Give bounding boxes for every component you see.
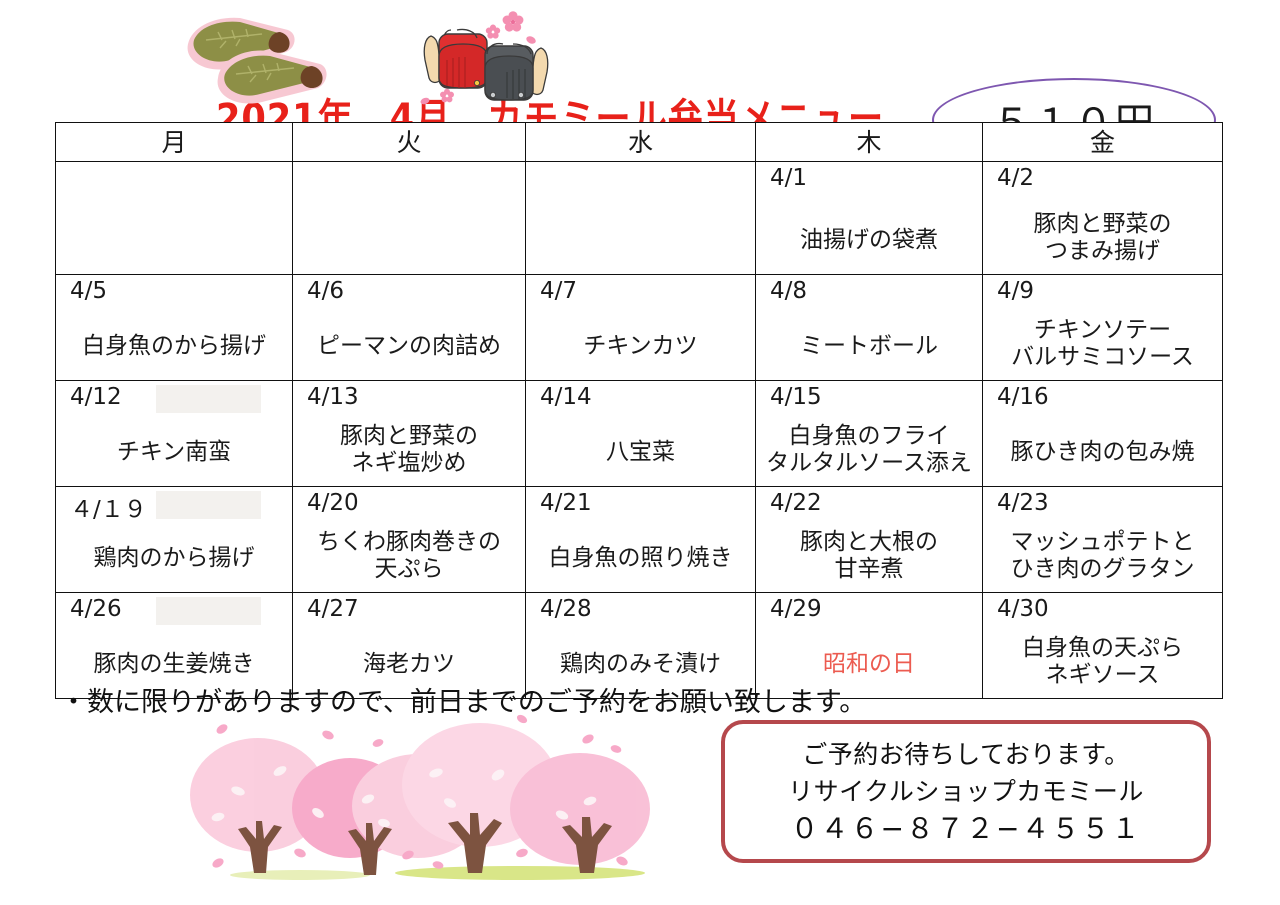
cell-menu-item: 海老カツ — [293, 651, 525, 678]
calendar-cell-friday-week4[interactable]: 4/23マッシュポテトとひき肉のグラタン — [983, 487, 1223, 593]
table-row: 4/12チキン南蛮4/13豚肉と野菜のネギ塩炒め4/14八宝菜4/15白身魚のフ… — [56, 381, 1223, 487]
column-header-tuesday: 火 — [293, 123, 526, 162]
calendar-cell-friday-week5[interactable]: 4/30白身魚の天ぷらネギソース — [983, 593, 1223, 699]
cell-date: ４/１９ — [70, 490, 147, 524]
menu-calendar-table: 月 火 水 木 金 4/1油揚げの袋煮4/2豚肉と野菜のつまみ揚げ4/5白身魚の… — [55, 122, 1223, 699]
calendar-cell-thursday-week3[interactable]: 4/15白身魚のフライタルタルソース添え — [756, 381, 983, 487]
cell-menu-item: ちくわ豚肉巻きの天ぷら — [293, 529, 525, 583]
cell-date: 4/29 — [770, 596, 822, 622]
table-body: 4/1油揚げの袋煮4/2豚肉と野菜のつまみ揚げ4/5白身魚のから揚げ4/6ピーマ… — [56, 162, 1223, 699]
cell-date: 4/22 — [770, 490, 822, 516]
table-row: 4/1油揚げの袋煮4/2豚肉と野菜のつまみ揚げ — [56, 162, 1223, 275]
column-header-friday: 金 — [983, 123, 1223, 162]
cell-date: 4/2 — [997, 165, 1034, 191]
cherry-blossom-trees-icon — [150, 713, 675, 893]
calendar-cell-wednesday-week2[interactable]: 4/7チキンカツ — [526, 275, 756, 381]
date-highlight-box — [156, 491, 261, 519]
calendar-cell-thursday-week4[interactable]: 4/22豚肉と大根の甘辛煮 — [756, 487, 983, 593]
calendar-cell-tuesday-week1[interactable] — [293, 162, 526, 275]
calendar-cell-monday-week4[interactable]: ４/１９鶏肉のから揚げ — [56, 487, 293, 593]
calendar-cell-tuesday-week2[interactable]: 4/6ピーマンの肉詰め — [293, 275, 526, 381]
cell-menu-item: 白身魚の照り焼き — [526, 545, 755, 572]
cell-date: 4/6 — [307, 278, 344, 304]
cell-menu-item: ピーマンの肉詰め — [293, 333, 525, 360]
cell-date: 4/21 — [540, 490, 592, 516]
cell-menu-item: 豚ひき肉の包み焼 — [983, 439, 1222, 466]
cell-menu-item: 豚肉と野菜のつまみ揚げ — [983, 211, 1222, 265]
cell-date: 4/28 — [540, 596, 592, 622]
cell-date: 4/8 — [770, 278, 807, 304]
title-bar: 2021年 4月 カモミール弁当メニュー ５１０円 — [0, 42, 1280, 112]
cell-menu-item: チキンカツ — [526, 333, 755, 360]
cell-date: 4/1 — [770, 165, 807, 191]
cell-menu-item: 豚肉と大根の甘辛煮 — [756, 529, 982, 583]
table-header-row: 月 火 水 木 金 — [56, 123, 1223, 162]
cell-menu-item: 八宝菜 — [526, 439, 755, 466]
cell-menu-item: 豚肉と野菜のネギ塩炒め — [293, 423, 525, 477]
calendar-cell-wednesday-week4[interactable]: 4/21白身魚の照り焼き — [526, 487, 756, 593]
calendar-cell-thursday-week1[interactable]: 4/1油揚げの袋煮 — [756, 162, 983, 275]
cell-date: 4/9 — [997, 278, 1034, 304]
calendar-cell-wednesday-week1[interactable] — [526, 162, 756, 275]
column-header-monday: 月 — [56, 123, 293, 162]
cell-menu-item: 白身魚のから揚げ — [56, 333, 292, 360]
column-header-wednesday: 水 — [526, 123, 756, 162]
contact-line-1: ご予約お待ちしております。 — [802, 736, 1130, 773]
cell-date: 4/23 — [997, 490, 1049, 516]
cell-menu-item: ミートボール — [756, 333, 982, 360]
cell-date: 4/16 — [997, 384, 1049, 410]
calendar-cell-friday-week3[interactable]: 4/16豚ひき肉の包み焼 — [983, 381, 1223, 487]
calendar-cell-tuesday-week4[interactable]: 4/20ちくわ豚肉巻きの天ぷら — [293, 487, 526, 593]
calendar-cell-monday-week3[interactable]: 4/12チキン南蛮 — [56, 381, 293, 487]
calendar-cell-monday-week1[interactable] — [56, 162, 293, 275]
calendar-cell-thursday-week2[interactable]: 4/8ミートボール — [756, 275, 983, 381]
cell-menu-item: 白身魚の天ぷらネギソース — [983, 635, 1222, 689]
date-highlight-box — [156, 385, 261, 413]
cell-menu-item: 白身魚のフライタルタルソース添え — [756, 423, 982, 477]
cell-menu-item: マッシュポテトとひき肉のグラタン — [983, 529, 1222, 583]
cell-menu-item: チキンソテーバルサミコソース — [983, 317, 1222, 371]
cell-date: 4/15 — [770, 384, 822, 410]
calendar-cell-monday-week2[interactable]: 4/5白身魚のから揚げ — [56, 275, 293, 381]
cell-menu-item: チキン南蛮 — [56, 439, 292, 466]
calendar-cell-tuesday-week3[interactable]: 4/13豚肉と野菜のネギ塩炒め — [293, 381, 526, 487]
cell-menu-item: 鶏肉のみそ漬け — [526, 651, 755, 678]
cell-date: 4/5 — [70, 278, 107, 304]
date-highlight-box — [156, 597, 261, 625]
calendar-cell-friday-week2[interactable]: 4/9チキンソテーバルサミコソース — [983, 275, 1223, 381]
calendar-cell-wednesday-week3[interactable]: 4/14八宝菜 — [526, 381, 756, 487]
cell-date: 4/20 — [307, 490, 359, 516]
cell-menu-item: 豚肉の生姜焼き — [56, 651, 292, 678]
cell-date: 4/14 — [540, 384, 592, 410]
cell-date: 4/30 — [997, 596, 1049, 622]
cell-date: 4/13 — [307, 384, 359, 410]
column-header-thursday: 木 — [756, 123, 983, 162]
contact-box: ご予約お待ちしております。 リサイクルショップカモミール ０４６−８７２−４５５… — [721, 720, 1211, 863]
table-row: ４/１９鶏肉のから揚げ4/20ちくわ豚肉巻きの天ぷら4/21白身魚の照り焼き4/… — [56, 487, 1223, 593]
cell-menu-item: 油揚げの袋煮 — [756, 227, 982, 254]
cell-menu-item: 鶏肉のから揚げ — [56, 545, 292, 572]
cell-date: 4/7 — [540, 278, 577, 304]
contact-phone-number: ０４６−８７２−４５５１ — [791, 810, 1142, 847]
contact-line-2: リサイクルショップカモミール — [788, 773, 1144, 810]
cell-holiday-label: 昭和の日 — [756, 651, 982, 678]
calendar-cell-friday-week1[interactable]: 4/2豚肉と野菜のつまみ揚げ — [983, 162, 1223, 275]
cell-date: 4/27 — [307, 596, 359, 622]
cell-date: 4/26 — [70, 596, 122, 622]
table-row: 4/5白身魚のから揚げ4/6ピーマンの肉詰め4/7チキンカツ4/8ミートボール4… — [56, 275, 1223, 381]
cell-date: 4/12 — [70, 384, 122, 410]
